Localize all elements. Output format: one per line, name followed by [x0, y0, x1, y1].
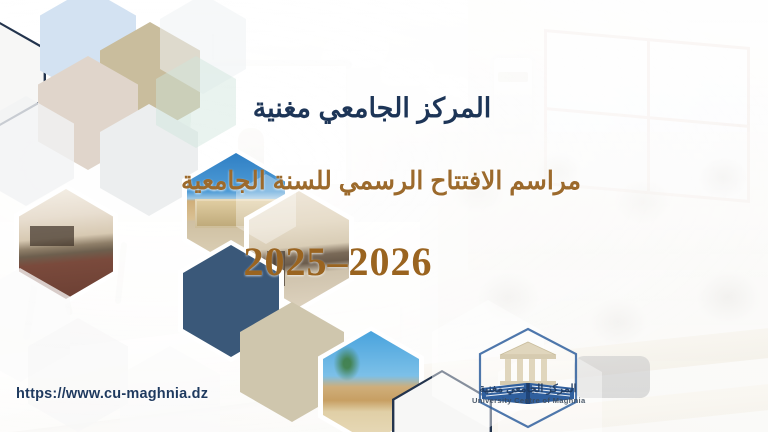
hexagon-collage [0, 0, 768, 432]
poster-canvas: المركز الجامعي مغنية مراسم الافتتاح الرس… [0, 0, 768, 432]
logo-building-architrave [500, 355, 556, 359]
website-url[interactable]: https://www.cu-maghnia.dz [16, 386, 208, 402]
headline-line-1: المركز الجامعي مغنية [0, 92, 744, 124]
headline-line-2: مراسم الافتتاح الرسمي للسنة الجامعية [0, 166, 762, 196]
logo-column [505, 359, 511, 381]
university-logo: المركز الجامعي مغنية University Centre o… [472, 326, 584, 430]
headline-academic-year: 2026–2025 [0, 240, 676, 284]
logo-building-pediment [500, 342, 556, 355]
logo-english-text: University Centre of Maghnia [472, 396, 584, 405]
logo-column [529, 359, 535, 381]
logo-arabic-text: المركز الجامعي مغنية [472, 382, 584, 395]
logo-column [541, 359, 547, 381]
logo-column [517, 359, 523, 381]
